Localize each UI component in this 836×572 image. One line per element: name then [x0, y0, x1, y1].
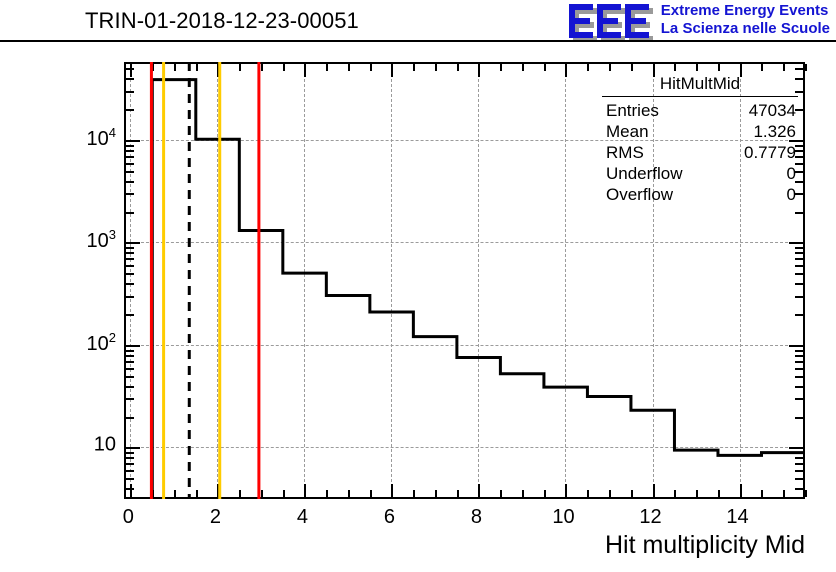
x-axis-tick	[413, 490, 415, 497]
y-axis-tick	[795, 247, 803, 249]
x-axis-tick	[609, 490, 611, 497]
y-axis-tick	[126, 109, 134, 111]
y-axis-ticklabel: 10	[94, 434, 116, 457]
y-axis-tick	[126, 488, 134, 490]
y-axis-tick	[126, 345, 140, 347]
stats-row-label: Mean	[606, 121, 649, 142]
x-axis-tick	[805, 490, 807, 497]
y-axis-tick	[795, 368, 803, 370]
y-axis-tick	[126, 91, 134, 93]
stats-row: Overflow0	[596, 184, 804, 205]
y-axis-tick	[795, 463, 803, 465]
stats-row: Underflow0	[596, 163, 804, 184]
x-axis-tick	[696, 64, 698, 71]
x-axis-tick	[348, 490, 350, 497]
y-axis-tick	[795, 470, 803, 472]
x-axis-ticklabel: 0	[123, 506, 134, 529]
gridline-horizontal	[126, 242, 803, 243]
y-axis-tick	[126, 252, 134, 254]
x-axis-tick	[261, 64, 263, 71]
x-axis-tick	[609, 64, 611, 71]
x-axis-tick	[740, 484, 742, 497]
y-axis-tick	[126, 68, 134, 70]
stats-row: Entries47034	[596, 100, 804, 121]
stats-row-value: 0	[787, 163, 796, 184]
stats-rows: Entries47034Mean1.326RMS0.7779Underflow0…	[596, 100, 804, 205]
x-axis-tick	[283, 490, 285, 497]
gridline-vertical	[130, 64, 131, 497]
x-axis-ticklabel: 8	[471, 506, 482, 529]
y-axis-tick	[795, 350, 803, 352]
x-axis-tick	[261, 490, 263, 497]
x-axis-tick	[674, 490, 676, 497]
x-axis-tick	[718, 490, 720, 497]
x-axis-ticklabel: 4	[297, 506, 308, 529]
stats-divider	[602, 96, 798, 97]
x-axis-tick	[196, 64, 198, 71]
x-axis-tick	[522, 490, 524, 497]
y-axis-tick	[795, 283, 803, 285]
y-axis-tick	[126, 283, 134, 285]
x-axis-tick	[130, 64, 132, 77]
x-axis-tick	[783, 490, 785, 497]
x-axis-tick	[326, 64, 328, 71]
x-axis-tick	[696, 490, 698, 497]
x-axis-tick	[370, 490, 372, 497]
y-axis-tick	[126, 258, 134, 260]
y-axis-tick	[126, 350, 134, 352]
x-axis-ticklabel: 10	[552, 506, 574, 529]
x-axis-tick	[805, 64, 807, 71]
stats-row-value: 0	[787, 184, 796, 205]
y-axis-tick	[795, 386, 803, 388]
x-axis-title: Hit multiplicity Mid	[605, 531, 805, 560]
x-axis-ticklabel: 2	[210, 506, 221, 529]
x-axis-tick	[370, 64, 372, 71]
page-title: TRIN-01-2018-12-23-00051	[85, 8, 359, 34]
x-axis-tick	[391, 484, 393, 497]
y-axis-tick	[126, 463, 134, 465]
x-axis-tick	[283, 64, 285, 71]
x-axis-tick	[478, 484, 480, 497]
x-axis-tick	[304, 484, 306, 497]
stats-row: RMS0.7779	[596, 142, 804, 163]
x-axis-tick	[544, 64, 546, 71]
x-axis-tick	[500, 64, 502, 71]
y-axis-tick	[126, 398, 134, 400]
x-axis-tick	[413, 64, 415, 71]
y-axis-tick	[795, 252, 803, 254]
y-axis-tick	[795, 488, 803, 490]
x-axis-tick	[457, 490, 459, 497]
x-axis-tick	[217, 484, 219, 497]
y-axis-tick	[126, 181, 134, 183]
x-axis-tick	[239, 64, 241, 71]
y-axis-tick	[126, 242, 140, 244]
x-axis-tick	[174, 490, 176, 497]
logo-text-line2: La Scienza nelle Scuole	[661, 20, 830, 38]
gridline-vertical	[478, 64, 479, 497]
y-axis-tick	[795, 398, 803, 400]
y-axis-tick	[795, 376, 803, 378]
x-axis-tick	[435, 64, 437, 71]
x-axis-tick	[587, 64, 589, 71]
stats-row: Mean1.326	[596, 121, 804, 142]
y-axis-tick	[789, 242, 803, 244]
y-axis-tick	[126, 265, 134, 267]
x-axis-tick	[174, 64, 176, 71]
y-axis-tick	[795, 68, 803, 70]
stats-row-value: 1.326	[753, 121, 796, 142]
x-axis-tick	[435, 490, 437, 497]
y-axis-tick	[126, 452, 134, 454]
y-axis-tick	[126, 296, 134, 298]
gridline-vertical	[217, 64, 218, 497]
x-axis-ticklabel: 12	[639, 506, 661, 529]
x-axis-tick	[761, 490, 763, 497]
y-axis-tick	[795, 212, 803, 214]
x-axis-tick	[326, 490, 328, 497]
x-axis-tick	[457, 64, 459, 71]
y-axis-tick	[126, 140, 140, 142]
x-axis-tick	[478, 64, 480, 77]
y-axis-tick	[126, 150, 134, 152]
x-axis-tick	[522, 64, 524, 71]
y-axis-tick	[795, 457, 803, 459]
x-axis-tick	[718, 64, 720, 71]
eee-logo-text: Extreme Energy Events La Scienza nelle S…	[661, 2, 830, 38]
y-axis-tick	[126, 417, 134, 419]
logo-letter-e-1	[569, 4, 593, 38]
y-axis-tick	[126, 247, 134, 249]
root-canvas: TRIN-01-2018-12-23-00051 Extreme Energy …	[0, 0, 836, 572]
x-axis-tick	[674, 64, 676, 71]
x-axis-tick	[152, 64, 154, 71]
x-axis-tick	[653, 484, 655, 497]
x-axis-tick	[304, 64, 306, 77]
x-axis-tick	[130, 484, 132, 497]
eee-logo: Extreme Energy Events La Scienza nelle S…	[569, 2, 830, 42]
stats-row-label: RMS	[606, 142, 644, 163]
x-axis-ticklabel: 6	[384, 506, 395, 529]
y-axis-tick	[795, 452, 803, 454]
x-axis-tick	[587, 490, 589, 497]
logo-letter-e-3	[625, 4, 649, 38]
y-axis-tick	[795, 361, 803, 363]
x-axis-tick	[631, 64, 633, 71]
gridline-vertical	[565, 64, 566, 497]
y-axis-ticklabel: 102	[87, 330, 116, 356]
x-axis-tick	[500, 490, 502, 497]
x-axis-tick	[196, 490, 198, 497]
x-axis-tick	[217, 64, 219, 77]
eee-logo-mark	[569, 4, 657, 40]
gridline-horizontal	[126, 345, 803, 346]
stats-row-value: 47034	[749, 100, 796, 121]
y-axis-tick	[126, 212, 134, 214]
y-axis-tick	[126, 368, 134, 370]
y-axis-ticklabel: 103	[87, 228, 116, 254]
logo-letter-e-2	[597, 4, 621, 38]
x-axis-ticklabel: 14	[726, 506, 748, 529]
y-axis-tick	[126, 193, 134, 195]
x-axis-tick	[565, 484, 567, 497]
header-divider	[0, 40, 836, 42]
y-axis-tick	[126, 457, 134, 459]
y-axis-tick	[795, 265, 803, 267]
x-axis-tick	[239, 490, 241, 497]
y-axis-tick	[126, 386, 134, 388]
y-axis-tick	[789, 447, 803, 449]
y-axis-tick	[795, 296, 803, 298]
y-axis-ticklabel: 104	[87, 125, 116, 151]
y-axis-tick	[126, 361, 134, 363]
y-axis-tick	[126, 478, 134, 480]
x-axis-tick	[631, 490, 633, 497]
x-axis-tick	[761, 64, 763, 71]
y-axis-tick	[126, 163, 134, 165]
stats-box[interactable]: HitMultMid Entries47034Mean1.326RMS0.777…	[596, 74, 804, 205]
y-axis-tick	[795, 355, 803, 357]
x-axis-tick	[152, 490, 154, 497]
y-axis-tick	[126, 171, 134, 173]
y-axis-tick	[126, 156, 134, 158]
y-axis-tick	[126, 273, 134, 275]
x-axis-tick	[783, 64, 785, 71]
x-axis-tick	[391, 64, 393, 77]
y-axis-tick	[795, 314, 803, 316]
x-axis-tick	[565, 64, 567, 77]
y-axis-tick	[126, 314, 134, 316]
gridline-vertical	[304, 64, 305, 497]
y-axis-tick	[126, 355, 134, 357]
stats-row-label: Underflow	[606, 163, 683, 184]
stats-title: HitMultMid	[596, 74, 804, 95]
y-axis-tick	[795, 478, 803, 480]
y-axis-tick	[795, 258, 803, 260]
y-axis-tick	[126, 470, 134, 472]
stats-row-value: 0.7779	[744, 142, 796, 163]
y-axis-tick	[789, 345, 803, 347]
stats-row-label: Overflow	[606, 184, 673, 205]
gridline-vertical	[391, 64, 392, 497]
y-axis-tick	[795, 417, 803, 419]
logo-text-line1: Extreme Energy Events	[661, 2, 830, 20]
y-axis-tick	[795, 273, 803, 275]
y-axis-tick	[126, 78, 134, 80]
stats-row-label: Entries	[606, 100, 659, 121]
y-axis-tick	[126, 447, 140, 449]
y-axis-tick	[126, 145, 134, 147]
x-axis-tick	[544, 490, 546, 497]
gridline-horizontal	[126, 447, 803, 448]
y-axis-tick	[126, 376, 134, 378]
x-axis-tick	[348, 64, 350, 71]
